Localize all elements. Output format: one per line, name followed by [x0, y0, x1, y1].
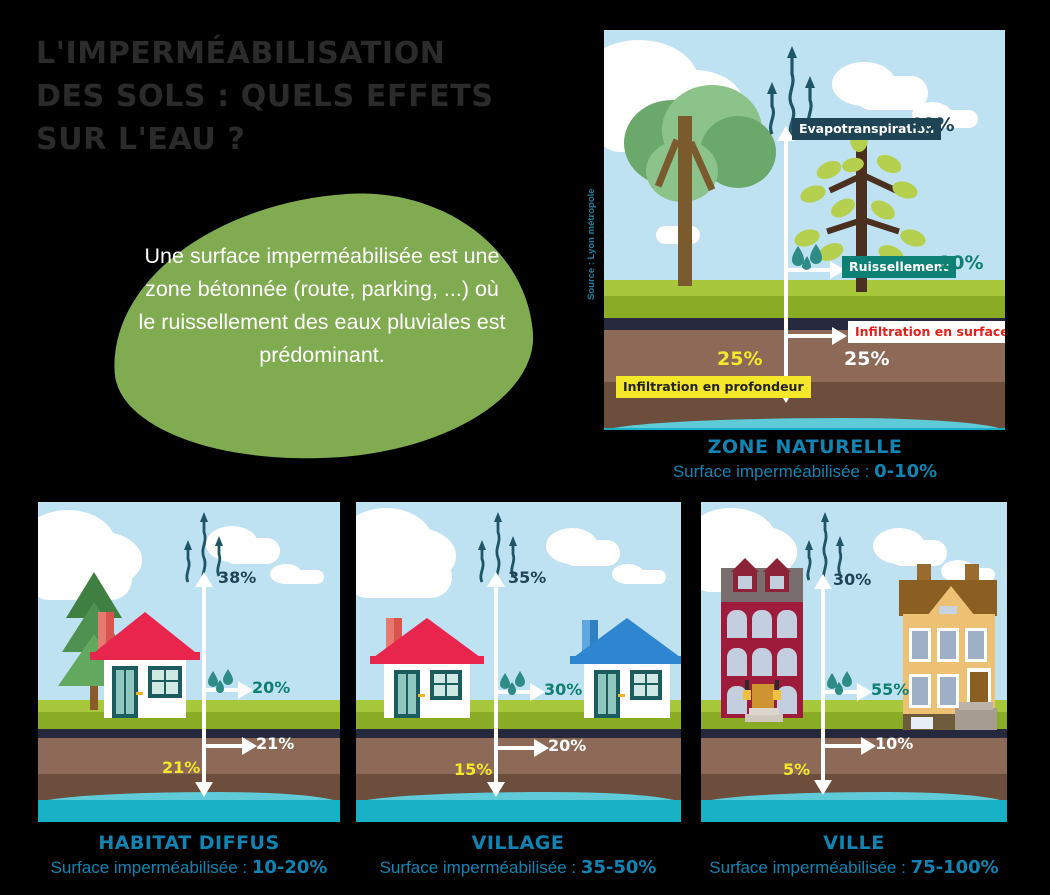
- infiltration-surface-value: 21%: [256, 734, 294, 753]
- building-window: [727, 648, 747, 676]
- window-glass: [912, 631, 928, 659]
- window-mullion: [164, 670, 166, 694]
- cloud-icon: [562, 540, 620, 566]
- arrow-right-icon: [534, 739, 549, 757]
- infiltration-profondeur-value: 25%: [717, 348, 762, 370]
- door-mullion: [406, 674, 408, 714]
- dormer-roof: [731, 558, 759, 572]
- callout-text: Une surface imperméabilisée est une zone…: [138, 240, 506, 372]
- arrow-right-icon: [530, 683, 545, 701]
- dormer-window: [738, 576, 752, 589]
- window-mullion: [434, 683, 458, 685]
- ruissellement-value: 20%: [252, 678, 290, 697]
- grass-light: [604, 280, 1005, 296]
- arrow-right-icon: [861, 737, 876, 755]
- caption-prefix: Surface imperméabilisée :: [380, 858, 581, 877]
- dormer-roof: [763, 558, 791, 572]
- caption-subtitle: Surface imperméabilisée : 10-20%: [39, 857, 339, 878]
- building-step: [749, 708, 779, 715]
- door-mullion: [124, 670, 126, 714]
- groundwater: [38, 800, 340, 822]
- panel-village: 35% 30% 20% 15%: [356, 502, 681, 822]
- title-line-2: DES SOLS : QUELS EFFETS: [36, 75, 556, 118]
- arrow-down-icon: [814, 780, 832, 795]
- evapotranspiration-value: 35%: [508, 568, 546, 587]
- building-window: [727, 610, 747, 638]
- caption-prefix: Surface imperméabilisée :: [673, 462, 874, 481]
- panel-habitat-diffus: 38% 20% 21% 21%: [38, 502, 340, 822]
- house-roof: [570, 618, 681, 660]
- water-droplet-icon: [206, 668, 240, 694]
- groundwater: [356, 800, 681, 822]
- basement-window: [911, 717, 933, 729]
- page-title: L'IMPERMÉABILISATION DES SOLS : QUELS EF…: [36, 32, 556, 161]
- infiltration-surface-line: [494, 746, 536, 750]
- arrow-right-icon: [857, 683, 872, 701]
- caption-title: VILLAGE: [368, 832, 668, 854]
- groundwater: [701, 800, 1007, 822]
- caption-ville: VILLE Surface imperméabilisée : 75-100%: [704, 832, 1004, 878]
- infiltration-surface-line: [821, 744, 863, 748]
- roof-eave: [90, 652, 200, 660]
- groundwater: [604, 428, 1005, 430]
- caption-value: 75-100%: [911, 857, 999, 878]
- roof-eave: [370, 656, 484, 664]
- water-droplet-icon: [790, 242, 830, 272]
- entrance-steps: [955, 708, 997, 730]
- building-window: [752, 648, 772, 676]
- infiltration-surface-value: 20%: [548, 736, 586, 755]
- evapotranspiration-value: 30%: [833, 570, 871, 589]
- arrow-right-icon: [242, 737, 257, 755]
- building-step: [745, 714, 783, 722]
- ruissellement-value: 30%: [544, 680, 582, 699]
- window-glass: [968, 631, 984, 659]
- cloud-icon: [280, 570, 324, 584]
- cloud-icon: [622, 570, 666, 584]
- window-glass: [940, 631, 956, 659]
- caption-title: VILLE: [704, 832, 1004, 854]
- roof-eave: [570, 656, 681, 664]
- dormer-window: [770, 576, 784, 589]
- window-mullion: [152, 680, 178, 682]
- door-handle: [618, 694, 625, 697]
- infiltration-surface-value: 10%: [875, 734, 913, 753]
- window-glass: [940, 677, 956, 705]
- infiltration-profondeur-value: 5%: [783, 760, 810, 779]
- window-glass: [912, 677, 928, 705]
- water-droplet-icon: [498, 670, 532, 696]
- cloud-icon: [889, 540, 947, 566]
- building-window: [777, 610, 797, 638]
- infiltration-surface-line: [784, 334, 834, 338]
- caption-value: 0-10%: [874, 461, 937, 482]
- arrow-down-icon: [487, 782, 505, 797]
- panel-ville: 30% 55% 10% 5%: [701, 502, 1007, 822]
- cloud-icon: [222, 538, 280, 564]
- caption-village: VILLAGE Surface imperméabilisée : 35-50%: [368, 832, 668, 878]
- source-label: Source : Lyon métropole: [586, 188, 597, 300]
- entrance-steps: [959, 702, 993, 710]
- arrow-down-icon: [195, 782, 213, 797]
- evapotranspiration-value: 40%: [909, 114, 954, 136]
- definition-callout: Une surface imperméabilisée est une zone…: [112, 196, 532, 458]
- infiltration-surface-badge: Infiltration en surface: [848, 321, 1005, 343]
- window-mullion: [445, 674, 447, 696]
- evapotranspiration-value: 38%: [218, 568, 256, 587]
- water-droplet-icon: [825, 670, 859, 696]
- caption-zone-naturelle: ZONE NATURELLE Surface imperméabilisée :…: [655, 436, 955, 482]
- arrow-up-icon: [195, 572, 213, 587]
- caption-subtitle: Surface imperméabilisée : 75-100%: [704, 857, 1004, 878]
- caption-subtitle: Surface imperméabilisée : 35-50%: [368, 857, 668, 878]
- arrow-right-icon: [832, 327, 847, 345]
- caption-prefix: Surface imperméabilisée :: [51, 858, 252, 877]
- grass-dark: [604, 296, 1005, 318]
- caption-value: 35-50%: [581, 857, 657, 878]
- infiltration-profondeur-value: 21%: [162, 758, 200, 777]
- title-line-1: L'IMPERMÉABILISATION: [36, 32, 556, 75]
- house-roof: [90, 612, 200, 656]
- window-mullion: [634, 683, 658, 685]
- building-window: [752, 610, 772, 638]
- arrow-up-icon: [814, 574, 832, 589]
- flow-line-vertical: [784, 140, 788, 390]
- infiltration-profondeur-value: 15%: [454, 760, 492, 779]
- arrow-up-icon: [487, 572, 505, 587]
- door-handle: [136, 692, 143, 695]
- infiltration-profondeur-badge: Infiltration en profondeur: [616, 376, 811, 398]
- infiltration-surface-value: 25%: [844, 348, 889, 370]
- ruissellement-value: 55%: [871, 680, 909, 699]
- house-roof: [370, 618, 484, 660]
- lantern-light: [773, 690, 781, 700]
- caption-title: HABITAT DIFFUS: [39, 832, 339, 854]
- building-window: [777, 648, 797, 676]
- grass-dark: [38, 712, 340, 729]
- lantern-light: [743, 690, 751, 700]
- caption-subtitle: Surface imperméabilisée : 0-10%: [655, 461, 955, 482]
- cloud-icon: [356, 556, 452, 598]
- window-mullion: [645, 674, 647, 696]
- arrow-right-icon: [238, 681, 253, 699]
- panel-zone-naturelle: Evapotranspiration 40% Ruissellement 10%…: [604, 30, 1005, 430]
- door-mullion: [606, 674, 608, 714]
- caption-habitat-diffus: HABITAT DIFFUS Surface imperméabilisée :…: [39, 832, 339, 878]
- door-handle: [418, 694, 425, 697]
- caption-title: ZONE NATURELLE: [655, 436, 955, 458]
- grass-light: [38, 700, 340, 712]
- infiltration-surface-line: [202, 744, 244, 748]
- caption-value: 10-20%: [252, 857, 328, 878]
- ruissellement-value: 10%: [938, 252, 983, 274]
- caption-prefix: Surface imperméabilisée :: [709, 858, 910, 877]
- title-line-3: SUR L'EAU ?: [36, 118, 556, 161]
